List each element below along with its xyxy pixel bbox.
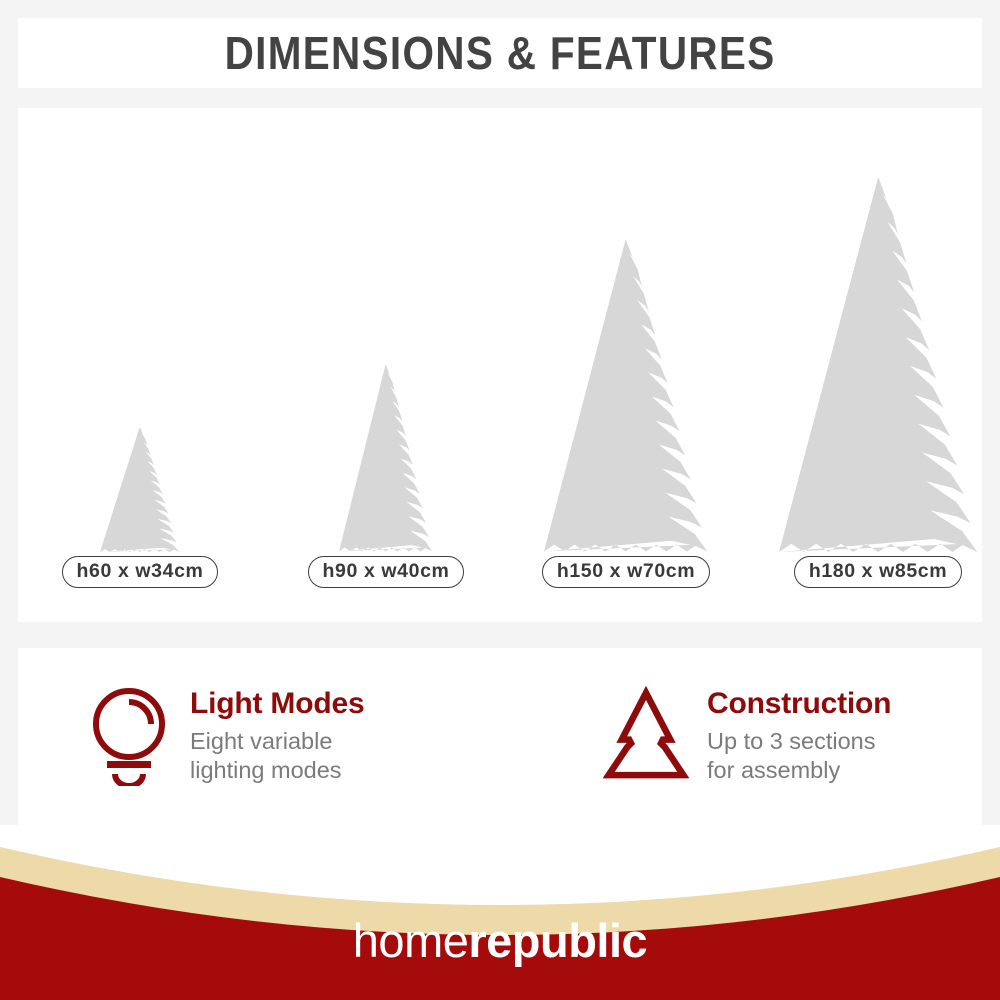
features-panel: Light Modes Eight variable lighting mode… (18, 648, 982, 838)
brand-logo: homerepublic (0, 917, 1000, 964)
tree-silhouette-icon (544, 239, 707, 552)
page-title: DIMENSIONS & FEATURES (224, 26, 775, 80)
tree-silhouette-icon (339, 364, 432, 552)
brand-logo-bold: republic (468, 914, 647, 967)
feature-text-block: Light Modes Eight variable lighting mode… (190, 682, 364, 785)
tree-silhouette-icon (779, 177, 977, 552)
size-label: h60 x w34cm (62, 556, 219, 588)
brand-logo-light: home (353, 914, 469, 967)
size-label: h150 x w70cm (542, 556, 710, 588)
footer-curve-decoration (0, 825, 1000, 1000)
feature-text-block: Construction Up to 3 sections for assemb… (707, 682, 891, 785)
feature-construction: Construction Up to 3 sections for assemb… (603, 682, 891, 792)
size-item: h180 x w85cm (758, 177, 998, 588)
size-item: h150 x w70cm (506, 239, 746, 588)
feature-heading: Construction (707, 688, 891, 720)
feature-heading: Light Modes (190, 688, 364, 720)
size-item: h90 x w40cm (266, 364, 506, 588)
infographic-page: DIMENSIONS & FEATURES h60 x w34cm h90 x … (0, 0, 1000, 1000)
size-label: h180 x w85cm (794, 556, 962, 588)
footer-banner: homerepublic (0, 825, 1000, 1000)
tree-size-row: h60 x w34cm h90 x w40cm h150 x w70cm h18… (18, 108, 982, 622)
lightbulb-icon (86, 682, 172, 792)
feature-light-modes: Light Modes Eight variable lighting mode… (86, 682, 364, 792)
size-chart-panel: h60 x w34cm h90 x w40cm h150 x w70cm h18… (18, 108, 982, 622)
feature-description-line2: for assembly (707, 756, 891, 785)
title-panel: DIMENSIONS & FEATURES (18, 18, 982, 88)
feature-description-line2: lighting modes (190, 756, 364, 785)
feature-description-line1: Eight variable (190, 727, 364, 756)
feature-description-line1: Up to 3 sections (707, 727, 891, 756)
size-item: h60 x w34cm (20, 427, 260, 588)
tree-silhouette-icon (100, 427, 179, 552)
size-label: h90 x w40cm (308, 556, 465, 588)
tree-outline-icon (603, 682, 689, 792)
